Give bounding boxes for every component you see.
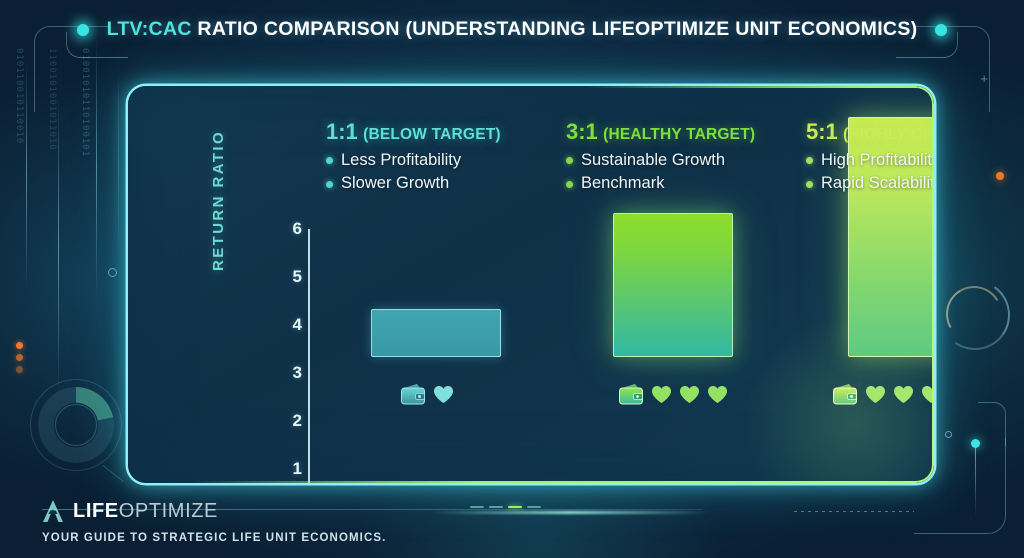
- bullet-dot-icon: [566, 157, 573, 164]
- binary-column: 01001010110100101: [79, 48, 90, 408]
- title-rest-text: RATIO COMPARISON (UNDERSTANDING LIFEOPTI…: [192, 18, 918, 40]
- list-item: Benchmark: [566, 172, 755, 195]
- list-item: Slower Growth: [326, 172, 501, 195]
- bar-chart: RETURN RATIO 6 5 4 3 2 1 0 1:1 (BELOW TA…: [128, 86, 934, 483]
- decor-status-dots: [16, 342, 23, 373]
- page-title: LTV:CAC RATIO COMPARISON (UNDERSTANDING …: [107, 18, 918, 41]
- lifeoptimize-logo-icon: [42, 499, 64, 523]
- bullet-dot-icon: [326, 181, 333, 188]
- list-item: High Profitability: [806, 149, 934, 172]
- bullet-text: High Profitability: [821, 149, 934, 172]
- column-group-1-1: 1:1 (BELOW TARGET) Less Profitability Sl…: [326, 119, 501, 196]
- benefit-list-1-1: Less Profitability Slower Growth: [326, 149, 501, 196]
- list-item: Sustainable Growth: [566, 149, 755, 172]
- icon-row-3-1: [618, 383, 728, 405]
- bar-ratio-3-1[interactable]: [613, 213, 733, 357]
- bullet-text: Sustainable Growth: [581, 149, 725, 172]
- heart-icon: [651, 385, 672, 404]
- bullet-dot-icon: [566, 181, 573, 188]
- y-tick-3: 3: [278, 363, 302, 383]
- plus-icon: +: [980, 72, 988, 85]
- wallet-icon: [832, 383, 858, 405]
- ratio-value-5-1: 5:1: [806, 119, 838, 144]
- title-accent-text: LTV:CAC: [107, 18, 192, 40]
- heart-icon: [865, 385, 886, 404]
- ratio-qualifier-3-1: (HEALTHY TARGET): [603, 126, 755, 143]
- heart-icon: [893, 385, 914, 404]
- bullet-text: Less Profitability: [341, 149, 461, 172]
- bullet-dot-icon: [326, 157, 333, 164]
- decor-vertical-line: [118, 70, 119, 260]
- brand-name-light: OPTIMIZE: [119, 500, 218, 522]
- bullet-text: Slower Growth: [341, 172, 449, 195]
- title-node-left-icon: [77, 24, 89, 36]
- benefit-list-3-1: Sustainable Growth Benchmark: [566, 149, 755, 196]
- column-group-5-1: 5:1 (HIGHLY OPTIMAL) High Profitability …: [806, 119, 934, 196]
- footer: LIFEOPTIMIZE YOUR GUIDE TO STRATEGIC LIF…: [42, 499, 502, 544]
- footer-tagline: YOUR GUIDE TO STRATEGIC LIFE UNIT ECONOM…: [42, 532, 502, 544]
- wallet-icon: [400, 383, 426, 405]
- heart-icon: [921, 385, 934, 404]
- icon-row-1-1: [400, 383, 454, 405]
- ratio-qualifier-5-1: (HIGHLY OPTIMAL): [843, 126, 934, 143]
- bullet-dot-icon: [806, 181, 813, 188]
- y-tick-4: 4: [278, 315, 302, 335]
- hud-node-dot: [945, 431, 952, 438]
- y-tick-5: 5: [278, 267, 302, 287]
- brand-lockup[interactable]: LIFEOPTIMIZE: [42, 499, 502, 523]
- hud-notch: [978, 402, 1006, 446]
- column-heading-5-1: 5:1 (HIGHLY OPTIMAL): [806, 119, 934, 145]
- list-item: Less Profitability: [326, 149, 501, 172]
- decor-circle-node: [108, 268, 117, 277]
- heart-icon: [707, 385, 728, 404]
- heart-icon: [433, 385, 454, 404]
- binary-column: 1100101001011010: [46, 48, 57, 408]
- bullet-text: Rapid Scalability: [821, 172, 934, 195]
- decor-gauge-pointer: [103, 465, 124, 482]
- y-tick-6: 6: [278, 219, 302, 239]
- decor-accent-dot: [996, 172, 1004, 180]
- y-tick-2: 2: [278, 411, 302, 431]
- decor-cyan-stem: [975, 446, 976, 518]
- icon-row-5-1: [832, 383, 934, 405]
- decor-arc-inner: [934, 274, 1015, 355]
- bullet-text: Benchmark: [581, 172, 664, 195]
- ratio-value-1-1: 1:1: [326, 119, 358, 144]
- footer-divider: [42, 509, 702, 510]
- infographic-canvas: 01001010110100101 1100101001011010 01011…: [0, 0, 1024, 558]
- title-bar: LTV:CAC RATIO COMPARISON (UNDERSTANDING …: [0, 18, 1024, 41]
- y-tick-1: 1: [278, 459, 302, 479]
- title-node-right-icon: [935, 24, 947, 36]
- ratio-value-3-1: 3:1: [566, 119, 598, 144]
- column-heading-1-1: 1:1 (BELOW TARGET): [326, 119, 501, 145]
- hud-dashed-rule: [794, 511, 914, 512]
- wallet-icon: [618, 383, 644, 405]
- brand-name-strong: LIFE: [73, 500, 119, 522]
- ratio-qualifier-1-1: (BELOW TARGET): [363, 126, 501, 143]
- decor-gauge-inner: [55, 404, 97, 446]
- chart-panel: RETURN RATIO 6 5 4 3 2 1 0 1:1 (BELOW TA…: [128, 86, 934, 483]
- bar-ratio-1-1[interactable]: [371, 309, 501, 357]
- y-axis-title: RETURN RATIO: [210, 130, 227, 271]
- heart-icon: [679, 385, 700, 404]
- benefit-list-5-1: High Profitability Rapid Scalability: [806, 149, 934, 196]
- bullet-dot-icon: [806, 157, 813, 164]
- column-group-3-1: 3:1 (HEALTHY TARGET) Sustainable Growth …: [566, 119, 755, 196]
- y-axis-line: [308, 229, 310, 483]
- column-heading-3-1: 3:1 (HEALTHY TARGET): [566, 119, 755, 145]
- brand-name: LIFEOPTIMIZE: [73, 500, 218, 523]
- list-item: Rapid Scalability: [806, 172, 934, 195]
